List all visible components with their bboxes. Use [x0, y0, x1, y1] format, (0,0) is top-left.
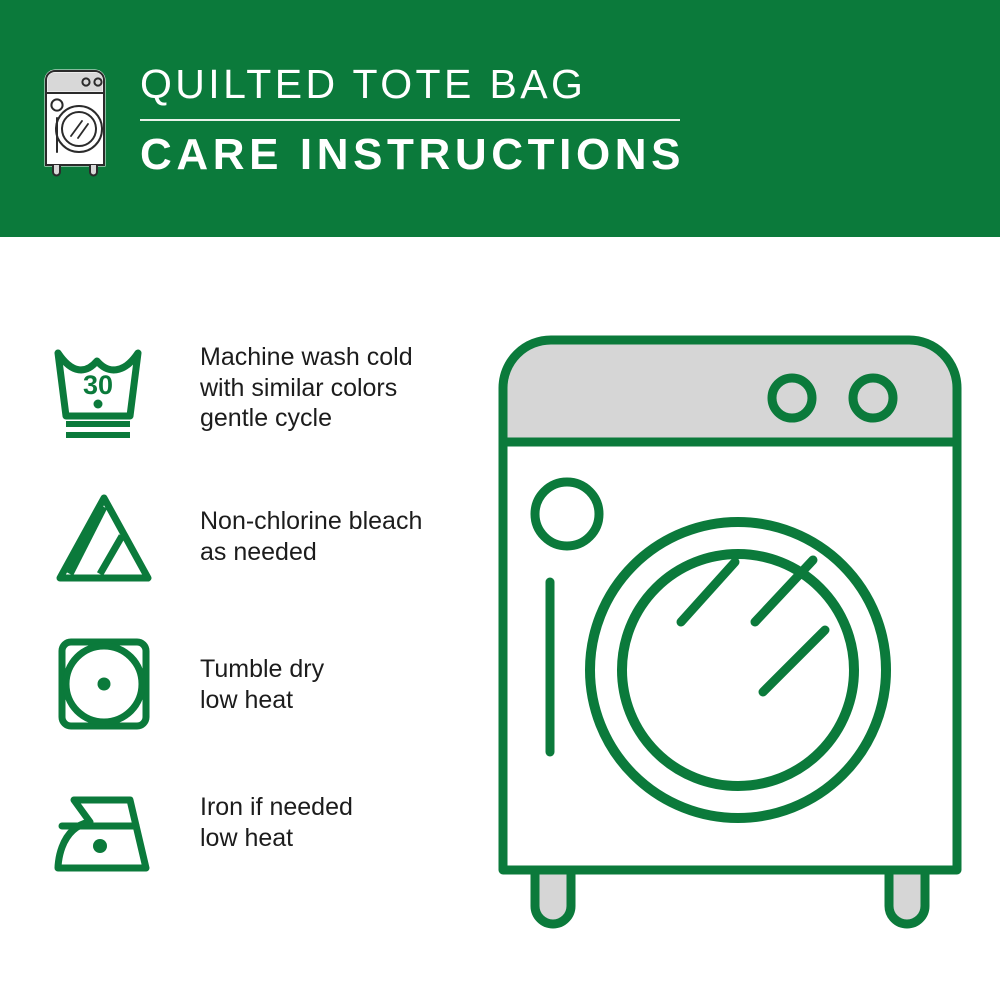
care-symbol-slot: [50, 632, 158, 732]
care-text-bleach: Non-chlorine bleach as needed: [200, 486, 422, 567]
care-text-line: with similar colors: [200, 373, 413, 404]
door-glass-shine-1: [681, 562, 735, 622]
care-text-machine-wash: Machine wash cold with similar colors ge…: [200, 340, 413, 434]
care-row-machine-wash: 30 Machine wash cold with similar colors…: [50, 340, 470, 440]
care-text-line: low heat: [200, 823, 353, 854]
washer-leg-left: [535, 870, 571, 924]
care-instructions-card: QUILTED TOTE BAG CARE INSTRUCTIONS 30: [0, 0, 1000, 1000]
care-instruction-list: 30 Machine wash cold with similar colors…: [50, 340, 470, 884]
care-symbol-slot: [50, 486, 158, 586]
title-divider: [140, 119, 680, 121]
machine-wash-30-gentle-symbol: 30: [52, 344, 156, 440]
care-text-iron: Iron if needed low heat: [200, 778, 353, 853]
washing-machine-icon: [42, 66, 108, 178]
header-content: QUILTED TOTE BAG CARE INSTRUCTIONS: [42, 62, 685, 178]
iron-low-heat-symbol: [52, 788, 156, 884]
care-text-line: low heat: [200, 685, 324, 716]
header-band: QUILTED TOTE BAG CARE INSTRUCTIONS: [0, 0, 1000, 237]
detergent-dispenser-icon: [535, 482, 599, 546]
care-text-line: Tumble dry: [200, 654, 324, 685]
gentle-dot: [94, 400, 103, 409]
washer-door-outer-ring: [590, 522, 886, 818]
low-heat-dot: [93, 839, 107, 853]
washer-leg-right: [889, 870, 925, 924]
tumble-dry-low-heat-symbol: [52, 636, 156, 732]
care-text-line: Iron if needed: [200, 792, 353, 823]
care-row-iron: Iron if needed low heat: [50, 778, 470, 884]
product-title: QUILTED TOTE BAG: [140, 64, 685, 105]
page-title: CARE INSTRUCTIONS: [140, 133, 685, 177]
header-title-group: QUILTED TOTE BAG CARE INSTRUCTIONS: [140, 62, 685, 177]
care-row-bleach: Non-chlorine bleach as needed: [50, 486, 470, 586]
wash-temperature-label: 30: [83, 370, 113, 400]
care-text-line: Non-chlorine bleach: [200, 506, 422, 537]
non-chlorine-bleach-symbol: [52, 490, 156, 586]
care-text-line: gentle cycle: [200, 403, 413, 434]
low-heat-dot: [98, 678, 111, 691]
washer-door-inner-ring: [622, 554, 854, 786]
care-symbol-slot: 30: [50, 340, 158, 440]
care-text-tumble-dry: Tumble dry low heat: [200, 632, 324, 715]
care-symbol-slot: [50, 778, 158, 884]
care-text-line: Machine wash cold: [200, 342, 413, 373]
door-glass-shine-3: [763, 630, 825, 692]
door-glass-shine-2: [755, 560, 813, 622]
care-text-line: as needed: [200, 537, 422, 568]
care-row-tumble-dry: Tumble dry low heat: [50, 632, 470, 732]
front-load-washing-machine-illustration: [495, 332, 965, 932]
